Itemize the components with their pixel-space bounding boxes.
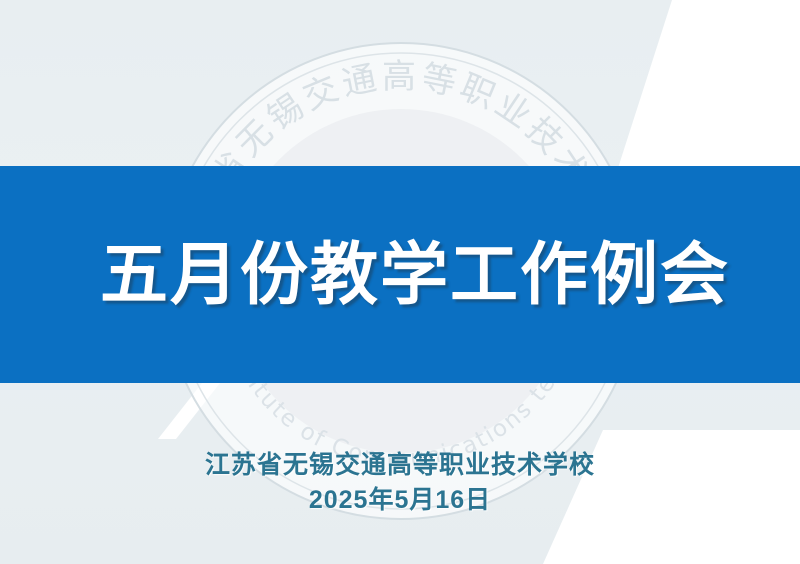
organization-name: 江苏省无锡交通高等职业技术学校: [0, 450, 800, 481]
title-banner: 五月份教学工作例会: [0, 166, 800, 383]
presentation-slide: 江苏省无锡交通高等职业技术学校 Wuxi Institute of Commun…: [0, 0, 800, 564]
subtitle-block: 江苏省无锡交通高等职业技术学校 2025年5月16日: [0, 450, 800, 517]
page-title: 五月份教学工作例会: [0, 166, 800, 383]
presentation-date: 2025年5月16日: [0, 485, 800, 516]
